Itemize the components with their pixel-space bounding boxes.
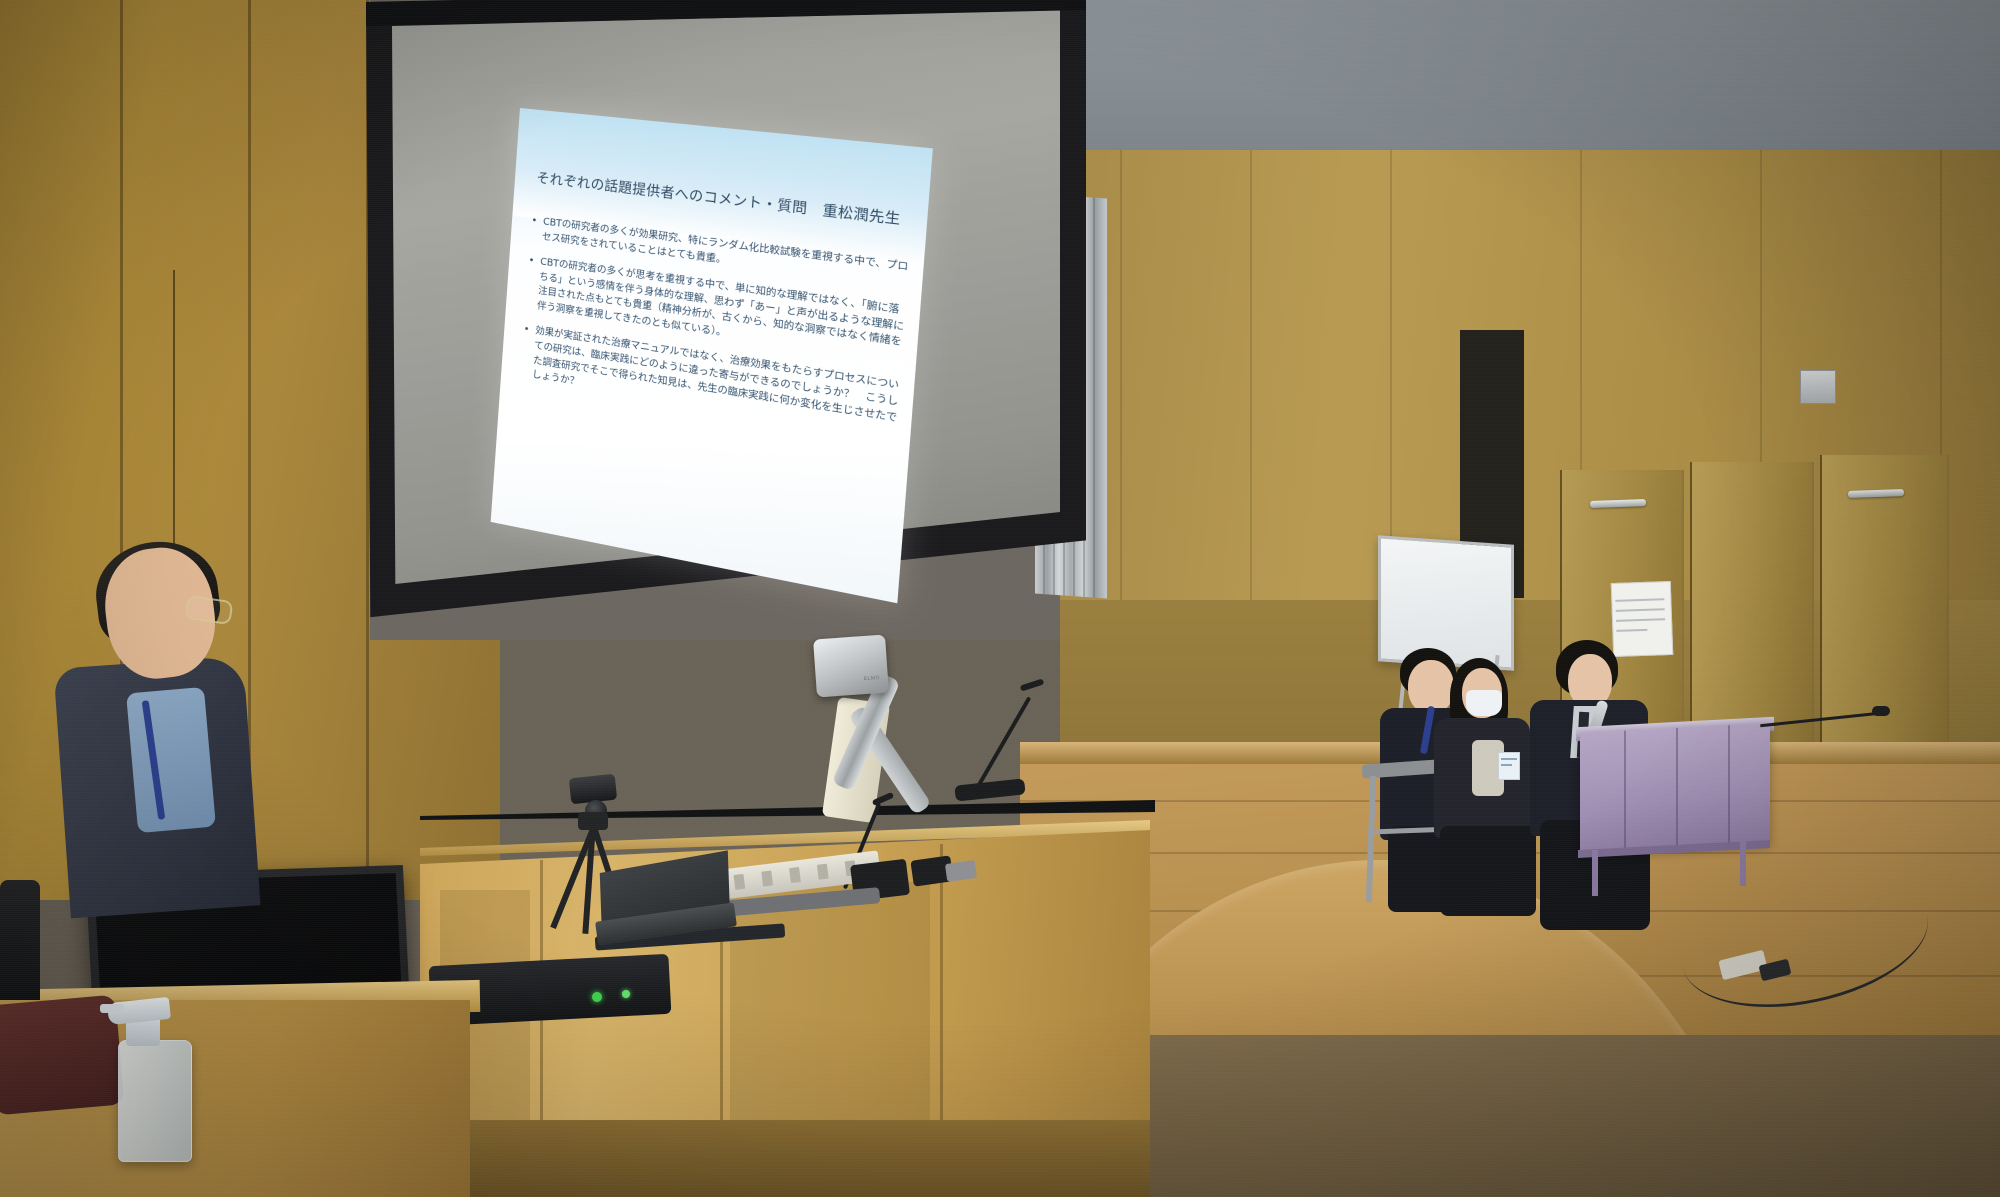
conference-hall-photo: それぞれの話題提供者へのコメント・質問 重松潤先生 CBTの研究者の多くが効果研… bbox=[0, 0, 2000, 1197]
panel-table bbox=[1580, 723, 1770, 853]
status-led-green bbox=[592, 992, 602, 1002]
microphone-capsule-icon bbox=[1872, 706, 1890, 716]
spray-bottle-body[interactable] bbox=[118, 1040, 192, 1162]
podium-base bbox=[420, 1120, 1150, 1197]
doc-camera-brand-label: ELMO bbox=[864, 675, 881, 682]
microphone-base bbox=[954, 778, 1025, 801]
face-mask bbox=[1466, 690, 1502, 716]
projected-slide: それぞれの話題提供者へのコメント・質問 重松潤先生 CBTの研究者の多くが効果研… bbox=[491, 108, 933, 603]
name-badge bbox=[1498, 752, 1520, 780]
panel-table-leg bbox=[1592, 850, 1598, 896]
tripod-head bbox=[578, 812, 608, 830]
microphone-capsule-icon bbox=[1020, 678, 1045, 691]
foreground-post bbox=[0, 880, 40, 1000]
wall-control-box[interactable] bbox=[1800, 370, 1836, 404]
wall-trim-rod bbox=[173, 270, 175, 560]
spray-bottle-nozzle-icon bbox=[100, 1004, 124, 1013]
whiteboard bbox=[1378, 535, 1514, 671]
moderator-shirt bbox=[126, 687, 216, 833]
panel-table-leg bbox=[1740, 840, 1746, 886]
panelist-legs bbox=[1440, 826, 1536, 916]
status-led-green bbox=[622, 990, 630, 998]
wall-notice-sheet bbox=[1611, 581, 1674, 657]
document-camera-head[interactable]: ELMO bbox=[813, 635, 889, 698]
